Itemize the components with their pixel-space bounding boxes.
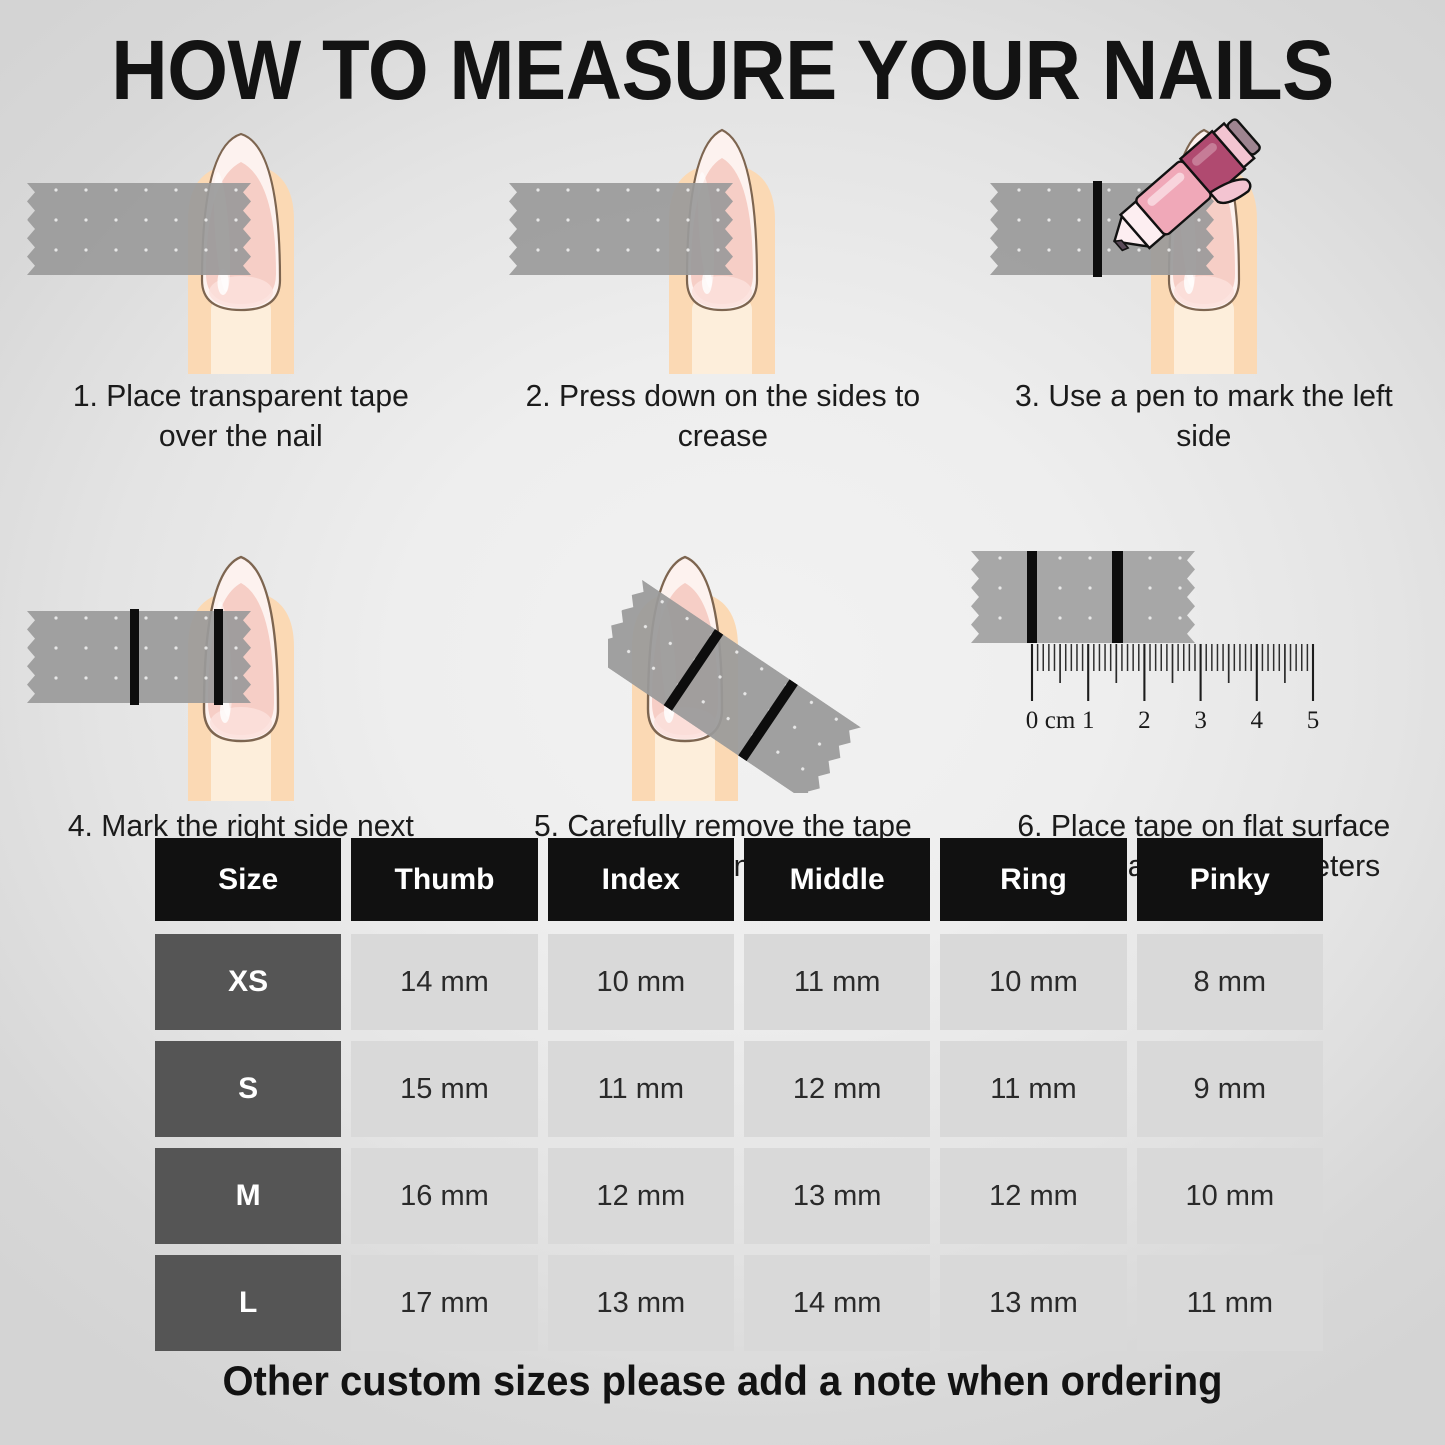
cell-s-middle: 12 mm: [744, 1041, 930, 1137]
step-2-caption: 2. Press down on the sides to crease: [489, 376, 956, 455]
cell-xs-index: 10 mm: [548, 934, 734, 1030]
custom-size-note: Other custom sizes please add a note whe…: [36, 1357, 1409, 1405]
column-header-size: Size: [155, 838, 341, 921]
ruler-unit-label: cm: [1045, 707, 1076, 734]
table-header-row: Size Thumb Index Middle Ring Pinky: [155, 838, 1323, 921]
steps-row-1: 1. Place transparent tape over the nail: [0, 118, 1445, 455]
cell-xs-middle: 11 mm: [744, 934, 930, 1030]
mark-left: [128, 609, 142, 705]
table-row: XS 14 mm 10 mm 11 mm 10 mm 8 mm: [155, 934, 1323, 1030]
steps-section: 1. Place transparent tape over the nail: [0, 118, 1445, 886]
page-title: HOW TO MEASURE YOUR NAILS: [51, 22, 1395, 119]
step-6-illustration: 0 cm 1 2 3 4 5: [963, 551, 1445, 806]
step-4: 4. Mark the right side next: [0, 551, 482, 885]
ruler-tick-1: 1: [1082, 707, 1095, 734]
step-1-caption: 1. Place transparent tape over the nail: [7, 376, 474, 455]
tape-strip: [19, 183, 259, 275]
step-6: 0 cm 1 2 3 4 5 6. Place tape on flat sur…: [963, 551, 1445, 885]
cell-m-thumb: 16 mm: [351, 1148, 537, 1244]
cell-m-ring: 12 mm: [940, 1148, 1126, 1244]
ruler-tick-3: 3: [1195, 707, 1208, 734]
ruler-tick-5: 5: [1307, 707, 1320, 734]
cell-l-ring: 13 mm: [940, 1255, 1126, 1351]
pen-icon: [1083, 114, 1273, 274]
cell-l-middle: 14 mm: [744, 1255, 930, 1351]
size-chart-table: Size Thumb Index Middle Ring Pinky XS 14…: [155, 838, 1323, 1362]
size-label-l: L: [155, 1255, 341, 1351]
cell-xs-pinky: 8 mm: [1137, 934, 1323, 1030]
size-label-xs: XS: [155, 934, 341, 1030]
column-header-thumb: Thumb: [351, 838, 537, 921]
cell-l-thumb: 17 mm: [351, 1255, 537, 1351]
size-label-s: S: [155, 1041, 341, 1137]
table-row: L 17 mm 13 mm 14 mm 13 mm 11 mm: [155, 1255, 1323, 1351]
ruler-tick-4: 4: [1251, 707, 1264, 734]
cell-s-thumb: 15 mm: [351, 1041, 537, 1137]
table-row: S 15 mm 11 mm 12 mm 11 mm 9 mm: [155, 1041, 1323, 1137]
step-5-illustration: [482, 551, 964, 806]
cell-s-ring: 11 mm: [940, 1041, 1126, 1137]
step-3-caption: 3. Use a pen to mark the left side: [971, 376, 1438, 455]
table-row: M 16 mm 12 mm 13 mm 12 mm 10 mm: [155, 1148, 1323, 1244]
tape-strip: [501, 183, 741, 275]
steps-row-2: 4. Mark the right side next: [0, 551, 1445, 885]
size-label-m: M: [155, 1148, 341, 1244]
cell-xs-thumb: 14 mm: [351, 934, 537, 1030]
ruler-tick-0: 0: [1026, 707, 1039, 734]
step-5: 5. Carefully remove the tape from nail: [482, 551, 964, 885]
step-1-illustration: [0, 118, 482, 376]
step-4-illustration: [0, 551, 482, 806]
cell-s-pinky: 9 mm: [1137, 1041, 1323, 1137]
mark-right: [212, 609, 226, 705]
cell-m-index: 12 mm: [548, 1148, 734, 1244]
ruler-tick-2: 2: [1138, 707, 1151, 734]
step-1: 1. Place transparent tape over the nail: [0, 118, 482, 455]
cell-l-index: 13 mm: [548, 1255, 734, 1351]
cell-l-pinky: 11 mm: [1137, 1255, 1323, 1351]
step-2-illustration: [482, 118, 964, 376]
column-header-ring: Ring: [940, 838, 1126, 921]
step-2: 2. Press down on the sides to crease: [482, 118, 964, 455]
column-header-pinky: Pinky: [1137, 838, 1323, 921]
column-header-index: Index: [548, 838, 734, 921]
step-3: 3. Use a pen to mark the left side: [963, 118, 1445, 455]
tape-strip-peeled: [608, 573, 928, 793]
cell-s-index: 11 mm: [548, 1041, 734, 1137]
cell-m-middle: 13 mm: [744, 1148, 930, 1244]
cell-m-pinky: 10 mm: [1137, 1148, 1323, 1244]
ruler-with-tape: 0 cm 1 2 3 4 5: [963, 551, 1363, 756]
step-3-illustration: [963, 118, 1445, 376]
cell-xs-ring: 10 mm: [940, 934, 1126, 1030]
column-header-middle: Middle: [744, 838, 930, 921]
